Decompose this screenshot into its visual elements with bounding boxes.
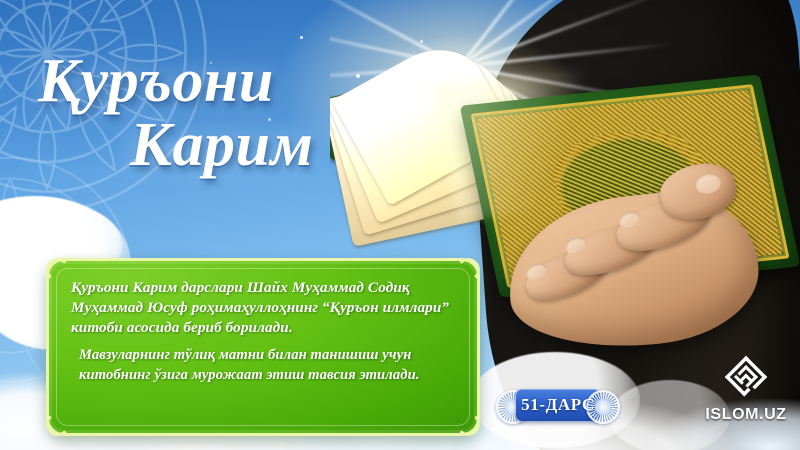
poster-title: Қуръони Карим [34, 52, 454, 175]
kufic-square-calligraphy-icon [721, 352, 771, 402]
title-line-2: Карим [34, 116, 454, 176]
lesson-badge-label: 51-ДАРС [521, 395, 595, 415]
brand-logo: ISLOM.UZ [700, 352, 792, 430]
info-panel-inner: Қуръони Карим дарслари Шайх Муҳаммад Сод… [56, 268, 470, 426]
info-paragraph-2: Мавзуларнинг тўлиқ матни билан танишиш у… [71, 346, 455, 385]
title-line-1: Қуръони [34, 52, 454, 112]
brand-name: ISLOM.UZ [705, 406, 786, 424]
cover-highlight [431, 67, 640, 220]
info-panel: Қуръони Карим дарслари Шайх Муҳаммад Сод… [46, 258, 480, 436]
poster-canvas: Қуръони Карим Қуръони Карим дарслари Шай… [0, 0, 800, 450]
sparkle-icon [300, 36, 303, 39]
lesson-badge: 51-ДАРС [498, 389, 618, 421]
info-paragraph-1: Қуръони Карим дарслари Шайх Муҳаммад Сод… [71, 278, 455, 337]
